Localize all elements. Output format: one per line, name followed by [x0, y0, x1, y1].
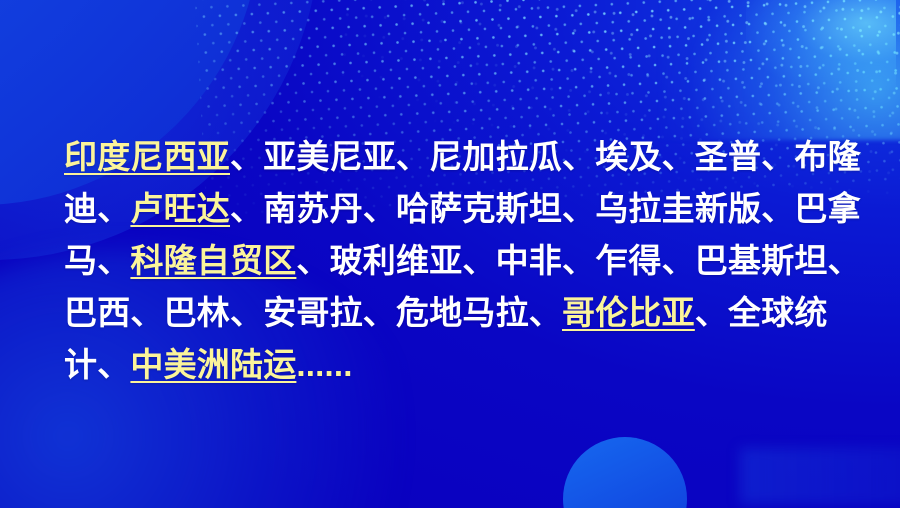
highlighted-text-segment: 科隆自贸区 — [130, 242, 296, 279]
text-segment: 、全球统 — [695, 294, 828, 331]
highlighted-text-segment: ...... — [296, 346, 352, 383]
text-segment: 计、 — [64, 346, 130, 383]
text-segment: 迪、 — [64, 190, 130, 227]
text-segment: 马、 — [64, 242, 130, 279]
text-line: 迪、卢旺达、南苏丹、哈萨克斯坦、乌拉圭新版、巴拿 — [64, 183, 854, 235]
text-line: 马、科隆自贸区、玻利维亚、中非、乍得、巴基斯坦、 — [64, 235, 854, 287]
slide-canvas: 印度尼西亚、亚美尼亚、尼加拉瓜、埃及、圣普、布隆 迪、卢旺达、南苏丹、哈萨克斯坦… — [0, 0, 900, 508]
highlighted-text-segment: 中美洲陆运 — [130, 346, 296, 383]
text-segment: 、玻利维亚、中非、乍得、巴基斯坦、 — [296, 242, 860, 279]
bottom-right-band-decoration — [740, 448, 900, 504]
text-segment: 、亚美尼亚、尼加拉瓜、埃及、圣普、布隆 — [230, 138, 861, 175]
text-line: 巴西、巴林、安哥拉、危地马拉、哥伦比亚、全球统 — [64, 287, 854, 339]
highlighted-text-segment: 哥伦比亚 — [562, 294, 695, 331]
text-segment: 巴西、巴林、安哥拉、危地马拉、 — [64, 294, 562, 331]
highlighted-text-segment: 印度尼西亚 — [64, 138, 230, 175]
highlighted-text-segment: 卢旺达 — [130, 190, 230, 227]
cyan-corner-glow-core — [746, 0, 896, 90]
text-line: 印度尼西亚、亚美尼亚、尼加拉瓜、埃及、圣普、布隆 — [64, 131, 854, 183]
country-list-text-block: 印度尼西亚、亚美尼亚、尼加拉瓜、埃及、圣普、布隆 迪、卢旺达、南苏丹、哈萨克斯坦… — [64, 131, 854, 391]
text-line: 计、中美洲陆运...... — [64, 339, 854, 391]
text-segment: 、南苏丹、哈萨克斯坦、乌拉圭新版、巴拿 — [230, 190, 861, 227]
